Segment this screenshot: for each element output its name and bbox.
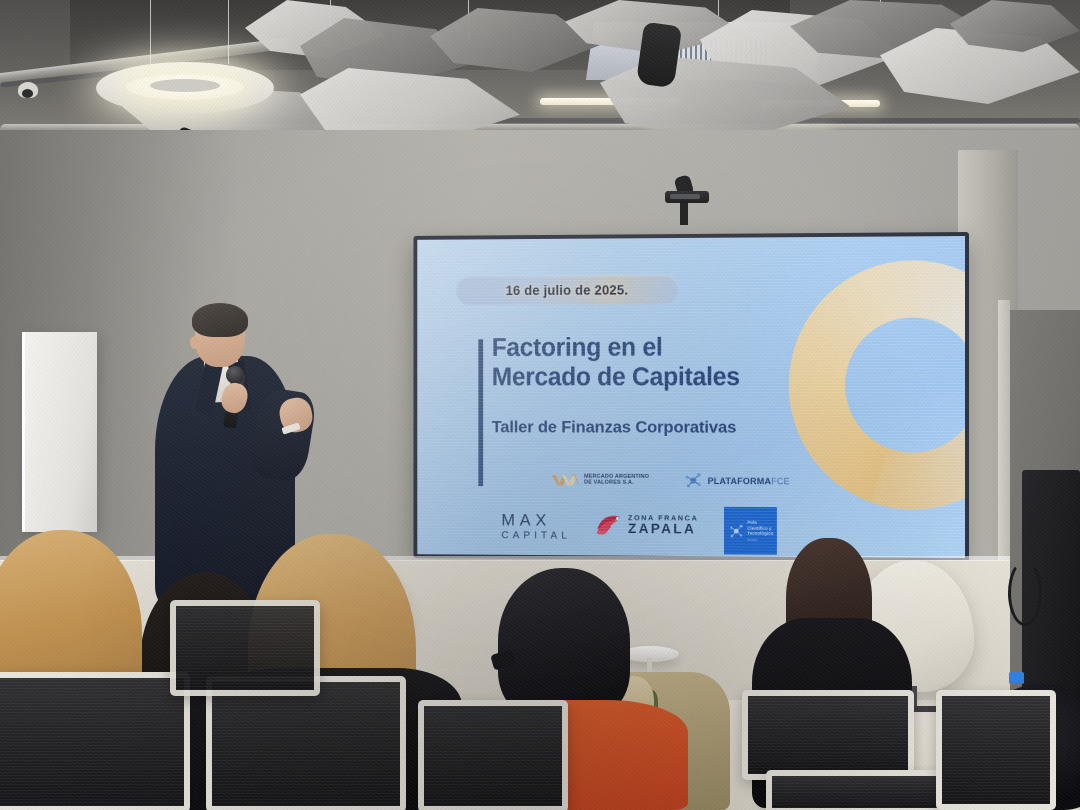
slide-title-line-1: Factoring en el (492, 334, 663, 362)
logo-mercado-argentino-de-valores: MERCADO ARGENTINO DE VALORES S.A. (551, 474, 649, 487)
mav-zigzag-mark (551, 474, 579, 487)
conference-photo-scene: 16 de julio de 2025. Factoring en el Mer… (0, 0, 1080, 810)
ptz-camera-mount (680, 203, 688, 225)
polo-line-3: Tecnológico (747, 531, 773, 537)
slide-subtitle: Taller de Finanzas Corporativas (492, 418, 872, 438)
molecule-node-icon (684, 471, 703, 490)
slide-canvas: 16 de julio de 2025. Factoring en el Mer… (417, 236, 965, 558)
av-status-badge (1009, 672, 1024, 684)
mav-logo-text: MERCADO ARGENTINO DE VALORES S.A. (584, 474, 649, 486)
lamp-hanger (150, 0, 151, 64)
logo-max-capital: MAX CAPITAL (501, 512, 571, 545)
audience-chair[interactable] (0, 672, 190, 810)
fce-logo-text: PLATAFORMAFCE (708, 476, 790, 486)
presenter-ear (190, 336, 199, 349)
polo-sub: Neuquén (747, 539, 773, 542)
mav-line-2: DE VALORES S.A. (584, 480, 649, 486)
ring-lamp-hole (150, 79, 220, 92)
ptz-camera-lens (670, 194, 700, 199)
max-line-2: CAPITAL (501, 528, 571, 544)
slide-title-block: Factoring en el Mercado de Capitales Tal… (492, 332, 872, 438)
logo-plataforma-fce: PLATAFORMAFCE (684, 471, 790, 490)
slide-date-text: 16 de julio de 2025. (506, 282, 629, 297)
audience-chair[interactable] (418, 700, 568, 810)
audience-chair[interactable] (766, 770, 944, 810)
slide-title-line-2: Mercado de Capitales (492, 363, 740, 391)
fce-text-bold: PLATAFORMA (708, 476, 772, 486)
zapala-line-2: ZAPALA (628, 522, 698, 536)
lamp-hanger (228, 0, 229, 64)
presentation-screen[interactable]: 16 de julio de 2025. Factoring en el Mer… (413, 232, 969, 562)
audience-chair[interactable] (170, 600, 320, 696)
audience-chair[interactable] (936, 690, 1056, 810)
attendee-hair (498, 568, 630, 720)
fce-text-light: FCE (771, 476, 790, 486)
slide-logo-row-primary: MERCADO ARGENTINO DE VALORES S.A. (551, 471, 844, 491)
audience-chair[interactable] (742, 690, 914, 780)
polo-logo-text: Polo Científico y Tecnológico Neuquén (747, 520, 773, 542)
slide-title-accent-bar (478, 339, 483, 486)
acoustic-panel (950, 0, 1080, 52)
security-camera-icon (18, 82, 38, 98)
node-network-icon (728, 522, 745, 539)
logo-polo-cientifico-tecnologico: Polo Científico y Tecnológico Neuquén (724, 507, 777, 555)
zapala-logo-text: ZONA FRANCA ZAPALA (628, 514, 698, 536)
presenter-hair (192, 303, 248, 337)
logo-zona-franca-zapala: ZONA FRANCA ZAPALA (596, 512, 698, 537)
whiteboard-panel (22, 332, 97, 532)
audience-chair[interactable] (206, 676, 406, 810)
slide-date-badge: 16 de julio de 2025. (455, 275, 679, 306)
screen-bezel: 16 de julio de 2025. Factoring en el Mer… (413, 232, 969, 562)
max-line-1: MAX (501, 512, 571, 529)
av-cable (1008, 560, 1042, 626)
eagle-mark (596, 512, 623, 537)
